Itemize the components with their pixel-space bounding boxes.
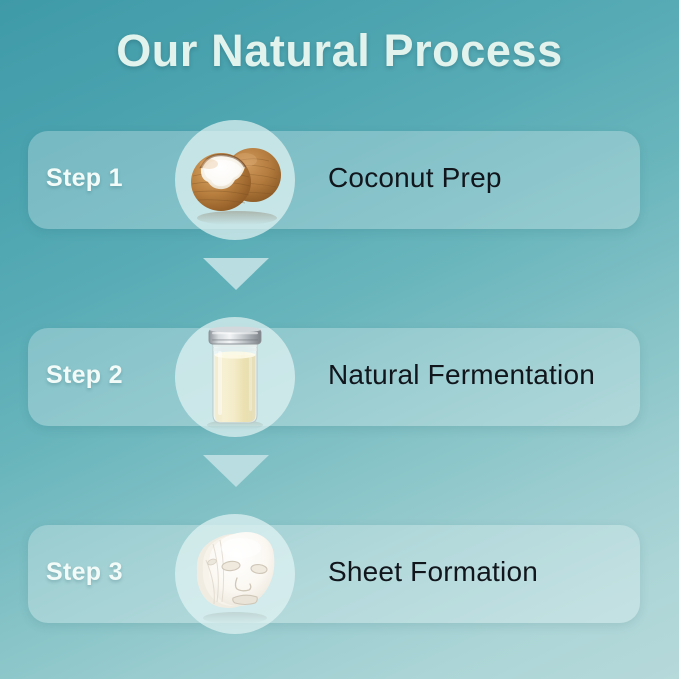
coconut-icon [175, 120, 295, 240]
process-step-row-2: Step 2 [0, 317, 679, 437]
step-title-3: Sheet Formation [328, 556, 538, 588]
sheet-mask-icon [175, 514, 295, 634]
step-label-1: Step 1 [46, 164, 196, 193]
process-step-row-3: Step 3 [0, 514, 679, 634]
arrow-down-icon-2 [203, 455, 269, 487]
process-step-row-1: Step 1 [0, 120, 679, 240]
step-icon-circle-3 [175, 514, 295, 634]
page-title: Our Natural Process [0, 26, 679, 76]
step-icon-circle-1 [175, 120, 295, 240]
step-icon-circle-2 [175, 317, 295, 437]
page-title-text: Our Natural Process [116, 26, 563, 76]
step-title-2: Natural Fermentation [328, 359, 595, 391]
step-label-2: Step 2 [46, 361, 196, 390]
process-infographic: Our Natural Process Step 1 [0, 0, 679, 679]
arrow-down-icon-1 [203, 258, 269, 290]
step-label-3: Step 3 [46, 558, 196, 587]
fermentation-jar-icon [175, 317, 295, 437]
step-title-1: Coconut Prep [328, 162, 502, 194]
